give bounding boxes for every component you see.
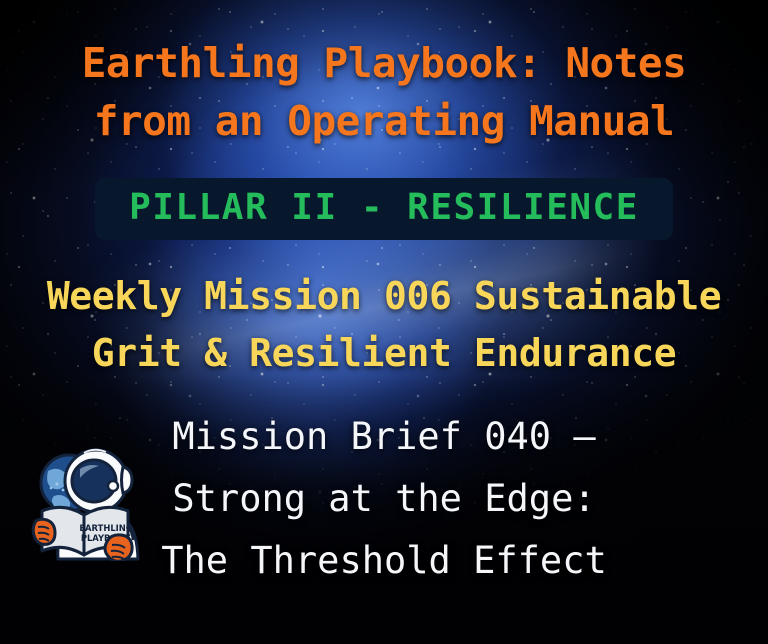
card-content: Earthling Playbook: Notes from an Operat… (0, 0, 768, 644)
pillar-badge: PILLAR II - RESILIENCE (95, 178, 673, 240)
pillar-badge-container: PILLAR II - RESILIENCE (0, 178, 768, 240)
astronaut-mascot-logo: EARTHLING PLAYBOOK (24, 441, 150, 561)
cover-card: Earthling Playbook: Notes from an Operat… (0, 0, 768, 644)
weekly-mission-heading: Weekly Mission 006 Sustainable Grit & Re… (0, 268, 768, 382)
page-title: Earthling Playbook: Notes from an Operat… (0, 34, 768, 150)
book-title-line1: EARTHLING (79, 523, 132, 533)
astronaut-helmet (65, 450, 132, 512)
